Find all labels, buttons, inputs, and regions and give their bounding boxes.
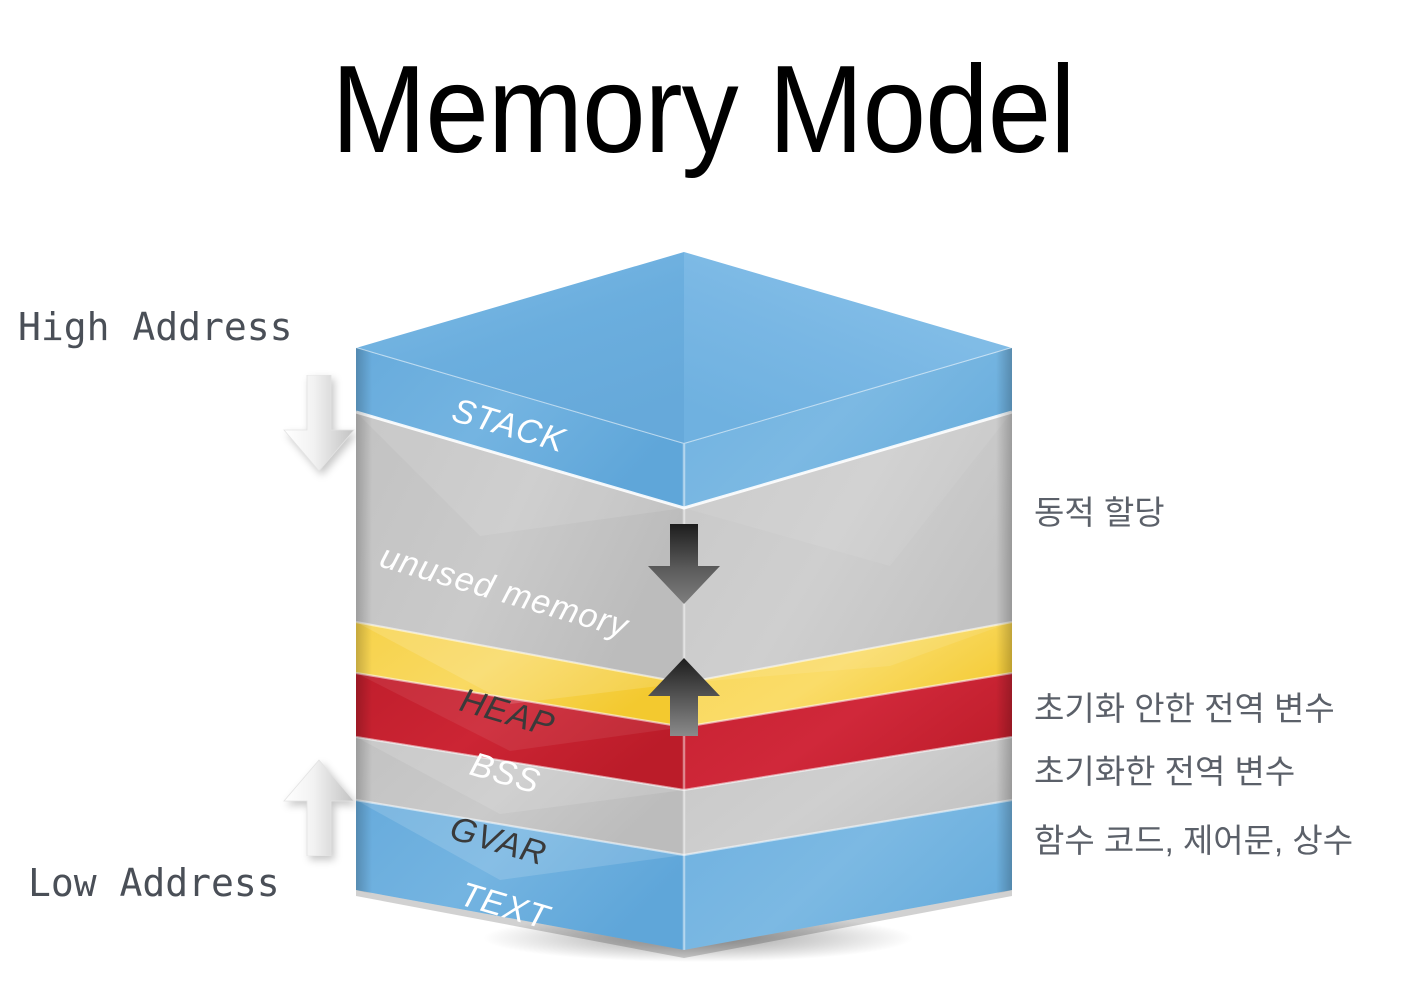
- note-code-and-constants: 함수 코드, 제어문, 상수: [1034, 824, 1353, 857]
- low-address-label: Low Address: [28, 864, 280, 902]
- note-initialized-globals: 초기화한 전역 변수: [1034, 755, 1295, 788]
- high-address-label: High Address: [18, 308, 293, 346]
- note-dynamic-allocation: 동적 할당: [1034, 496, 1165, 529]
- memory-layout-cube: STACK unused memory HEAP BSS GVAR TEXT: [330, 236, 1040, 966]
- page-title: Memory Model: [56, 48, 1350, 172]
- note-uninitialized-globals: 초기화 안한 전역 변수: [1034, 692, 1335, 725]
